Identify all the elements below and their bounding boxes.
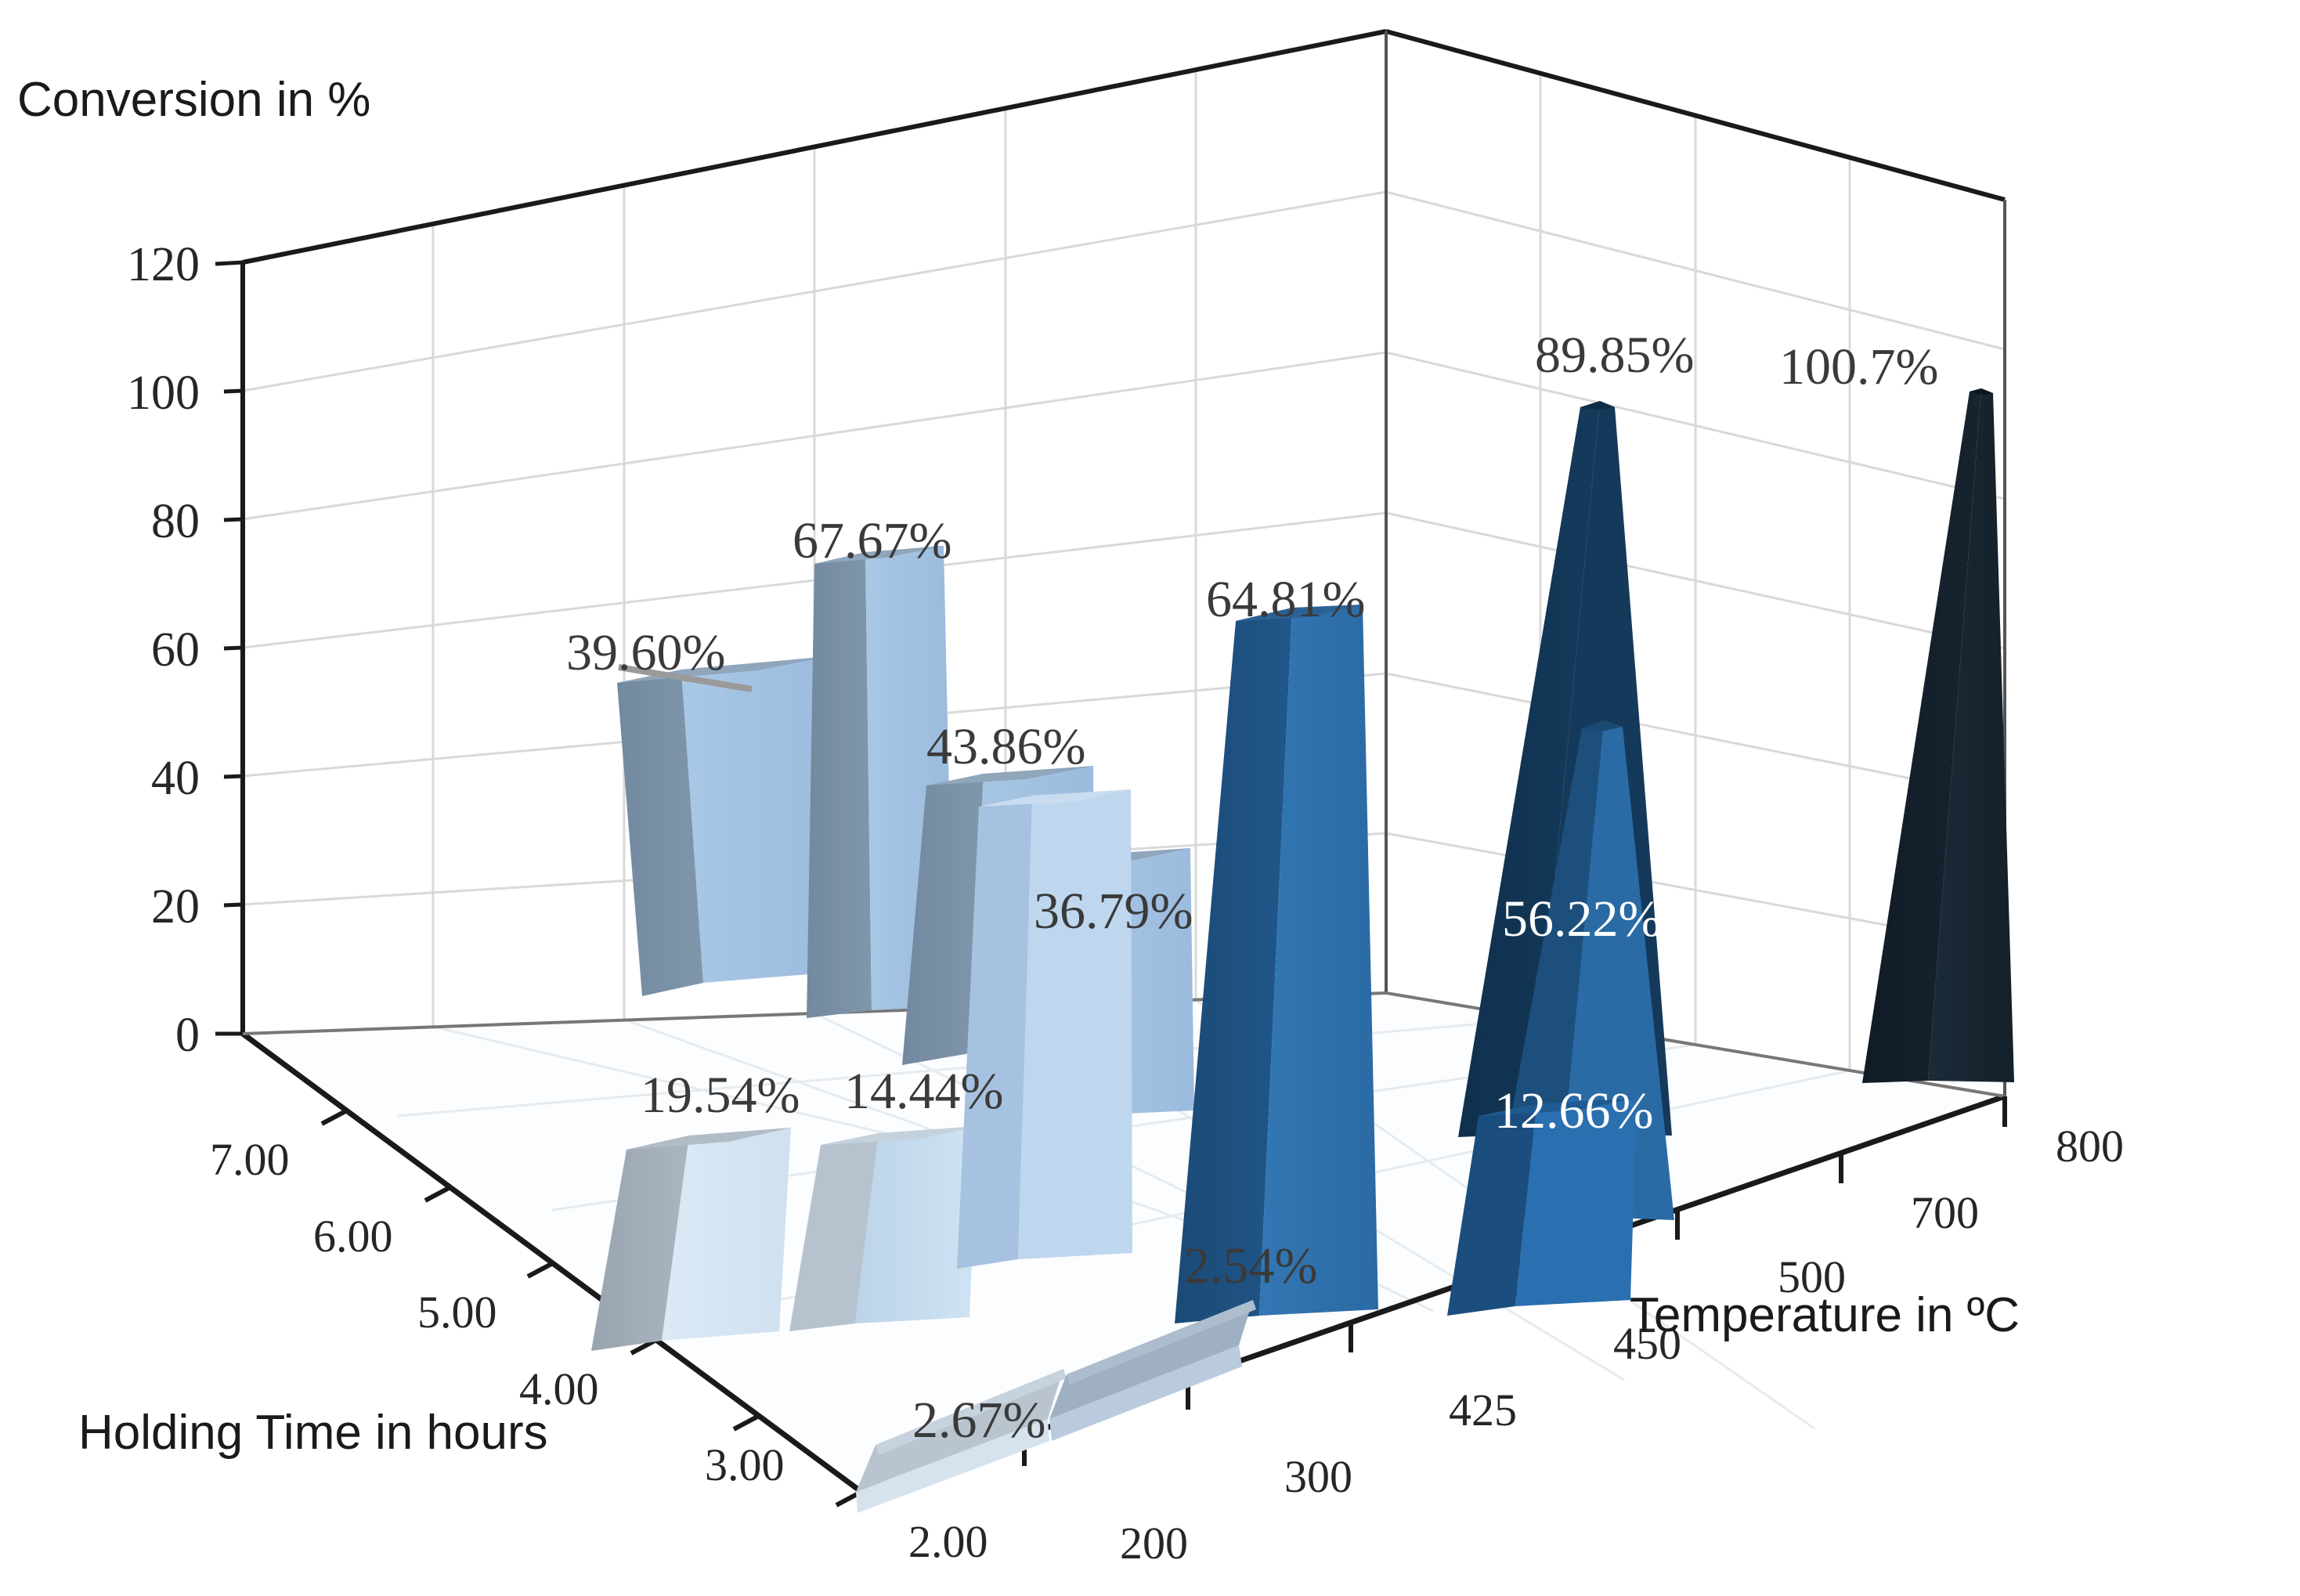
data-label-2-67: 2.67% <box>912 1392 1045 1449</box>
y-tick-6: 6.00 <box>313 1211 393 1262</box>
data-label-2-54: 2.54% <box>1184 1237 1317 1294</box>
bar-pale-pillar[interactable] <box>957 789 1132 1269</box>
z-tick-0: 0 <box>175 1009 200 1062</box>
z-axis-title: Conversion in % <box>17 73 370 127</box>
z-axis-tick-labels: 120 100 80 60 40 20 0 <box>127 238 200 1062</box>
z-tick-40: 40 <box>151 752 200 805</box>
data-label-43-86: 43.86% <box>926 718 1085 775</box>
holding-time-axis-title: Holding Time in hours <box>78 1406 548 1460</box>
x-tick-200: 200 <box>1120 1518 1188 1569</box>
temperature-axis-title: Temperature in ºC <box>1630 1288 2020 1342</box>
x-tick-800: 800 <box>2056 1121 2124 1172</box>
z-tick-80: 80 <box>151 495 200 548</box>
y-tick-7: 7.00 <box>210 1134 290 1185</box>
y-tick-5: 5.00 <box>417 1287 497 1338</box>
y-tick-3: 3.00 <box>705 1439 785 1490</box>
data-label-36-79: 36.79% <box>1034 883 1193 940</box>
chart-canvas: 120 100 80 60 40 20 0 7.00 6.00 5.00 4.0… <box>0 0 2300 1596</box>
z-tick-60: 60 <box>151 623 200 677</box>
data-label-19-54: 19.54% <box>641 1067 800 1124</box>
z-tick-20: 20 <box>151 880 200 933</box>
data-label-14-44: 14.44% <box>844 1063 1003 1120</box>
data-label-12-66: 12.66% <box>1494 1082 1653 1139</box>
plot-walls <box>243 31 2005 1492</box>
x-tick-425: 425 <box>1449 1385 1517 1435</box>
z-axis-ticks <box>215 262 243 1034</box>
x-tick-700: 700 <box>1911 1187 1979 1238</box>
data-label-67-67: 67.67% <box>793 512 951 569</box>
z-tick-120: 120 <box>127 238 200 291</box>
data-label-56-22: 56.22% <box>1502 890 1661 948</box>
data-label-100-7: 100.7% <box>1779 338 1938 395</box>
data-label-39-60: 39.60% <box>566 624 725 681</box>
z-tick-100: 100 <box>127 367 200 420</box>
x-tick-300: 300 <box>1284 1451 1352 1502</box>
conversion-3d-bar-chart: 120 100 80 60 40 20 0 7.00 6.00 5.00 4.0… <box>0 0 2300 1596</box>
data-label-64-81: 64.81% <box>1206 571 1365 628</box>
y-tick-2: 2.00 <box>908 1516 988 1567</box>
data-label-89-85: 89.85% <box>1535 327 1694 384</box>
